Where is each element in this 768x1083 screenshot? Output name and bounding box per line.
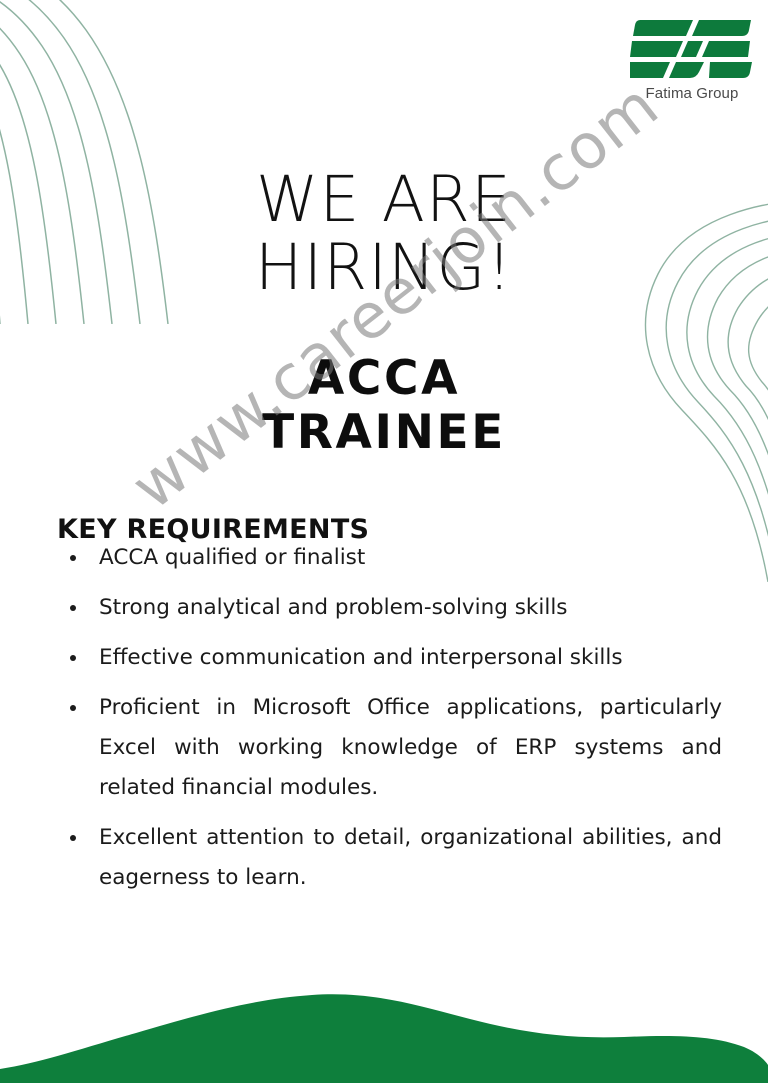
green-wave-footer-icon [0, 953, 768, 1083]
job-title-line-2: TRAINEE [0, 406, 768, 460]
bullet-point-icon [70, 705, 76, 711]
requirements-list: ACCA qualified or finalist Strong analyt… [62, 538, 722, 908]
list-item: Excellent attention to detail, organizat… [62, 818, 722, 898]
company-name-label: Fatima Group [628, 85, 756, 102]
requirement-text: Proficient in Microsoft Office applicati… [99, 688, 722, 808]
company-logo: Fatima Group [628, 16, 756, 102]
requirement-text: ACCA qualified or finalist [99, 545, 365, 570]
list-item: ACCA qualified or finalist [62, 538, 722, 578]
bullet-point-icon [70, 555, 76, 561]
page-title: WE ARE HIRING! [0, 166, 768, 302]
bullet-point-icon [70, 605, 76, 611]
bullet-point-icon [70, 655, 76, 661]
bullet-point-icon [70, 835, 76, 841]
list-item: Proficient in Microsoft Office applicati… [62, 688, 722, 808]
job-poster: Fatima Group WE ARE HIRING! ACCA TRAINEE… [0, 0, 768, 1083]
requirement-text: Excellent attention to detail, organizat… [99, 818, 722, 898]
headline-line-1: WE ARE [0, 166, 768, 234]
headline-line-2: HIRING! [0, 234, 768, 302]
job-title-line-1: ACCA [0, 352, 768, 406]
list-item: Strong analytical and problem-solving sk… [62, 588, 722, 628]
fatima-group-logo-icon [630, 16, 754, 82]
list-item: Effective communication and interpersona… [62, 638, 722, 678]
job-title: ACCA TRAINEE [0, 352, 768, 460]
requirement-text: Strong analytical and problem-solving sk… [99, 595, 568, 620]
requirement-text: Effective communication and interpersona… [99, 645, 623, 670]
